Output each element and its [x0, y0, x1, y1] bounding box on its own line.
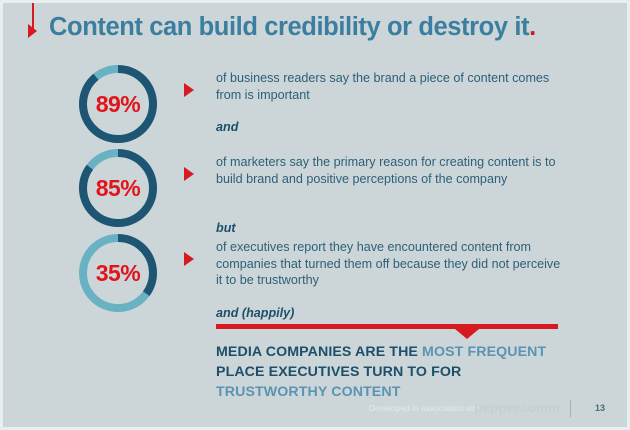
donut-chart-35: 35%: [75, 230, 161, 316]
slide: Content can build credibility or destroy…: [0, 0, 630, 430]
conclusion-line3-light: TRUSTWORTHY CONTENT: [216, 384, 401, 400]
page-title: Content can build credibility or destroy…: [49, 13, 536, 42]
page-title-text: Content can build credibility or destroy…: [49, 13, 529, 41]
connector-label: but: [216, 221, 236, 235]
conclusion-text: MEDIA COMPANIES ARE THE MOST FREQUENTPLA…: [216, 342, 576, 402]
conclusion-notch-icon: [455, 329, 479, 339]
stat-text: of business readers say the brand a piec…: [216, 70, 566, 103]
page-number: 13: [595, 403, 605, 413]
donut-percent-label: 85%: [75, 145, 161, 231]
stat-text: of executives report they have encounter…: [216, 239, 566, 289]
footer: Developed in association with peppercomm…: [3, 399, 630, 421]
conclusion-line2-dark: PLACE EXECUTIVES TURN TO FOR: [216, 364, 461, 380]
row-arrow-icon: [184, 167, 194, 181]
title-arrow-icon: [28, 24, 37, 38]
donut-chart-85: 85%: [75, 145, 161, 231]
donut-chart-89: 89%: [75, 61, 161, 147]
conclusion-divider-bar: [216, 324, 558, 329]
connector-label: and (happily): [216, 306, 294, 320]
donut-percent-label: 89%: [75, 61, 161, 147]
stat-text: of marketers say the primary reason for …: [216, 154, 566, 187]
peppercomm-logo: peppercomm: [474, 400, 560, 415]
footer-credit-text: Developed in association with: [369, 403, 481, 413]
title-row: Content can build credibility or destroy…: [3, 3, 630, 59]
connector-label: and: [216, 120, 238, 134]
conclusion-line1-dark: MEDIA COMPANIES ARE THE: [216, 344, 422, 360]
row-arrow-icon: [184, 252, 194, 266]
page-title-period: .: [529, 13, 536, 41]
donut-percent-label: 35%: [75, 230, 161, 316]
footer-divider: [570, 400, 571, 417]
row-arrow-icon: [184, 83, 194, 97]
conclusion-line1-light: MOST FREQUENT: [422, 344, 546, 360]
